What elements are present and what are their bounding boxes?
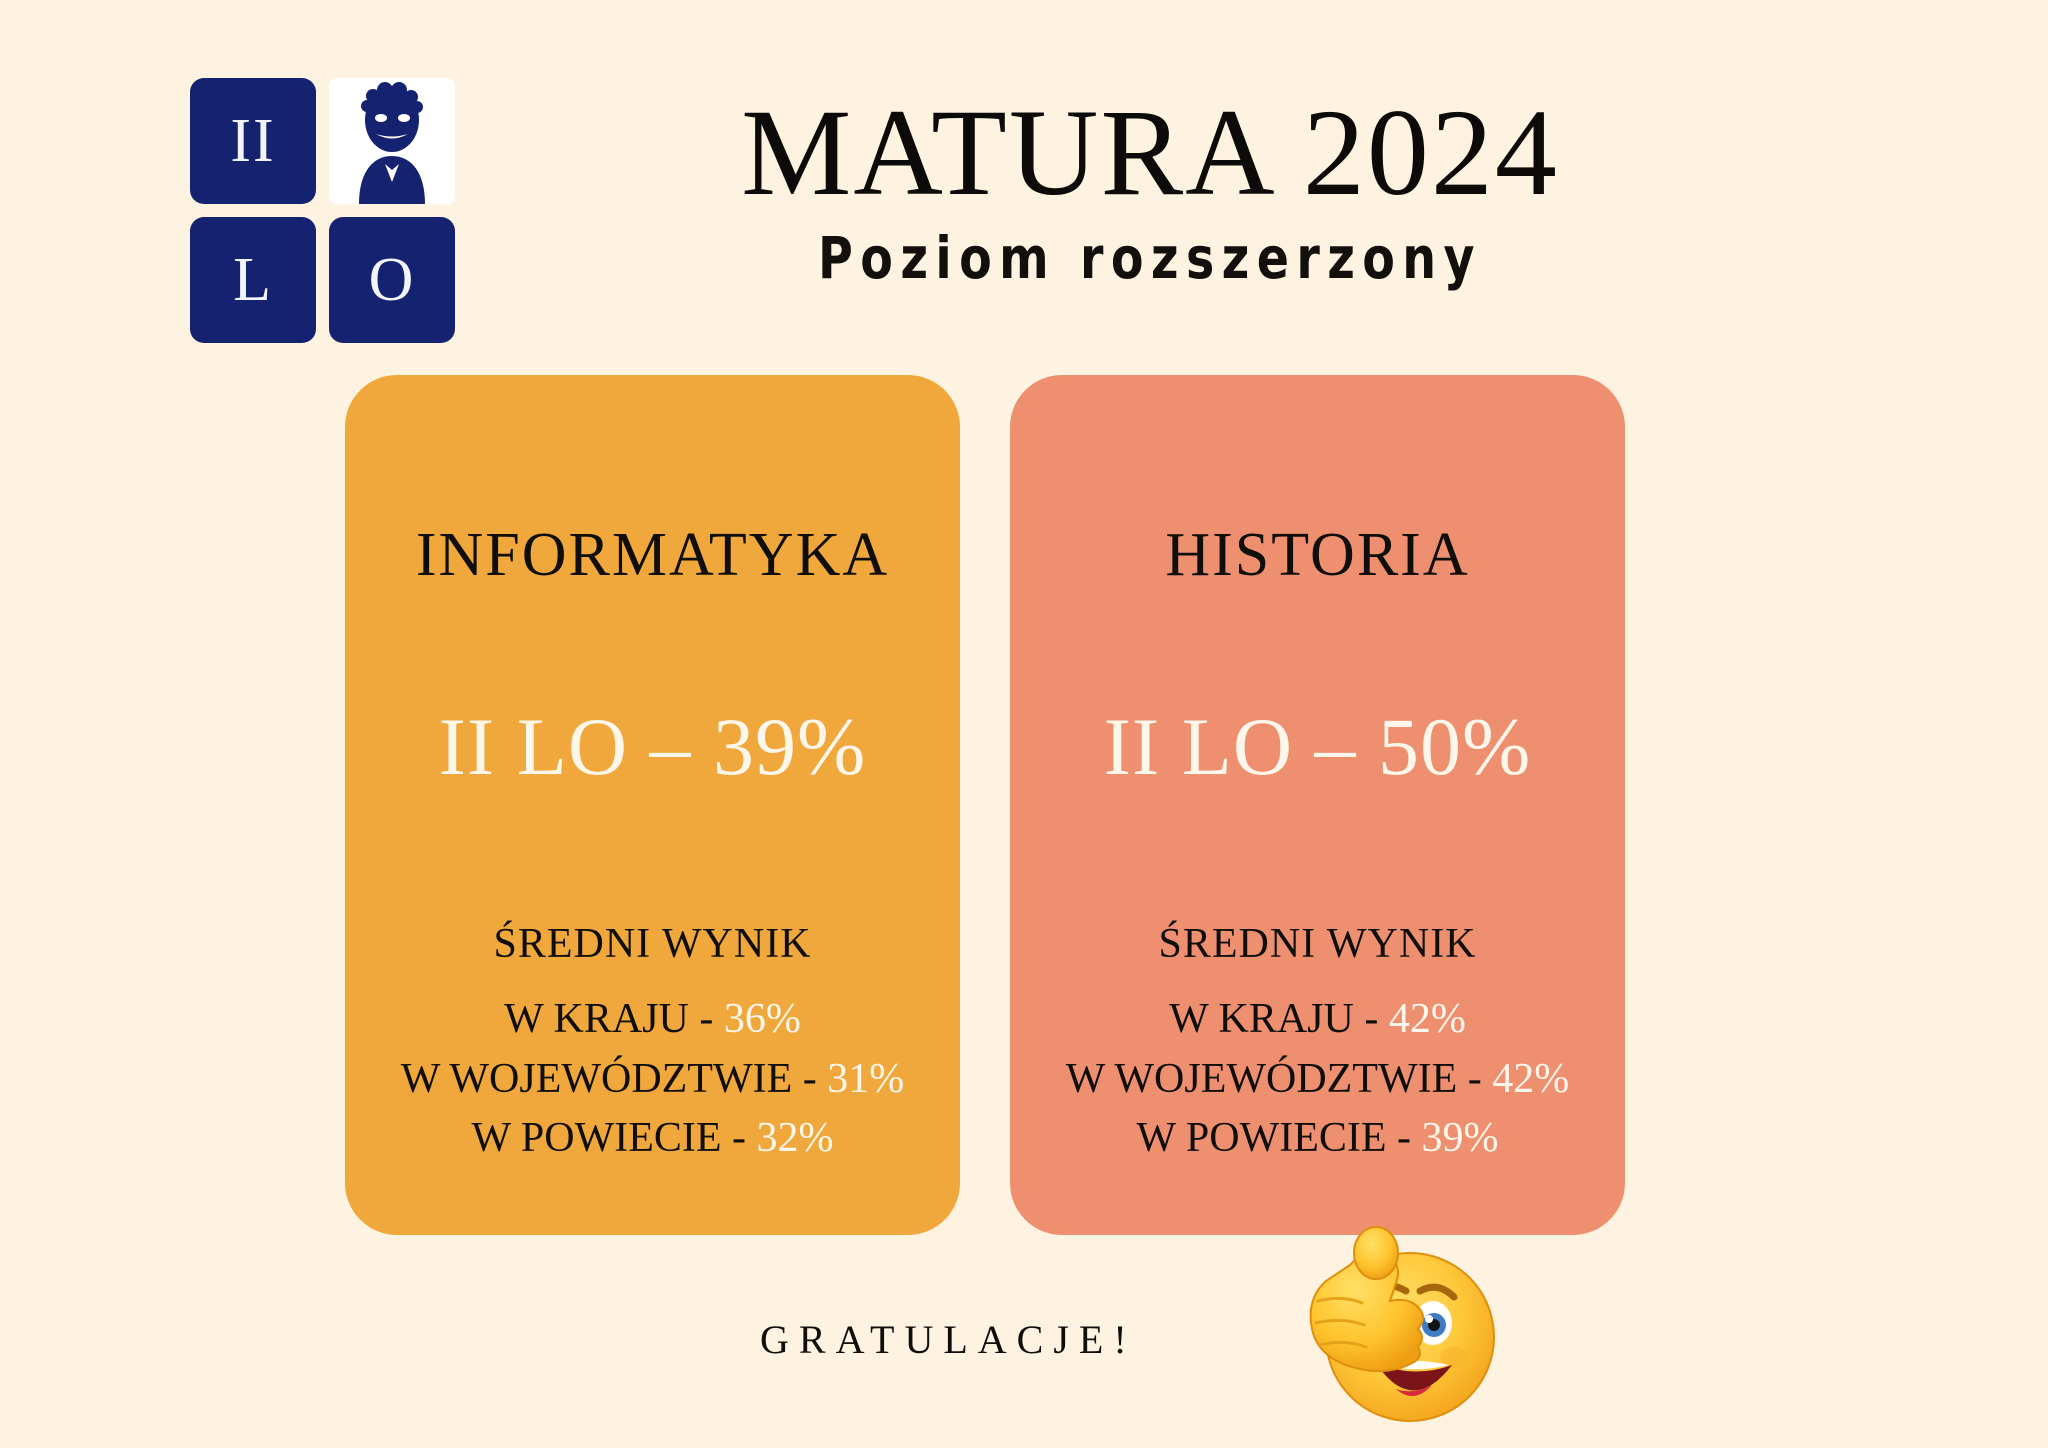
card-school-result: II LO – 50% (1010, 700, 1625, 794)
logo-tile-o-label: O (369, 249, 416, 311)
stat-label: W WOJEWÓDZTWIE - (401, 1056, 817, 1102)
stat-row-wojewodztwie: W WOJEWÓDZTWIE - 31% (345, 1050, 960, 1110)
stat-value: 39% (1422, 1115, 1499, 1161)
stat-label: W POWIECIE - (472, 1115, 747, 1161)
congratulations-text: GRATULACJE! (760, 1316, 1137, 1363)
logo-tile-l: L (190, 217, 316, 343)
logo-tile-l-label: L (233, 249, 273, 311)
stat-row-kraju: W KRAJU - 36% (345, 990, 960, 1050)
stat-value: 36% (724, 996, 801, 1042)
poster-canvas: II (0, 0, 2048, 1448)
stat-value: 42% (1389, 996, 1466, 1042)
stat-row-kraju: W KRAJU - 42% (1010, 990, 1625, 1050)
card-average-label: ŚREDNI WYNIK (345, 920, 960, 968)
stat-row-wojewodztwie: W WOJEWÓDZTWIE - 42% (1010, 1050, 1625, 1110)
ii-lo-school-logo: II (190, 78, 455, 343)
card-stat-list: W KRAJU - 42% W WOJEWÓDZTWIE - 42% W POW… (1010, 990, 1625, 1169)
stat-row-powiecie: W POWIECIE - 32% (345, 1109, 960, 1169)
subject-card-informatyka: INFORMATYKA II LO – 39% ŚREDNI WYNIK W K… (345, 375, 960, 1235)
stat-label: W KRAJU - (1169, 996, 1378, 1042)
stat-row-powiecie: W POWIECIE - 39% (1010, 1109, 1625, 1169)
stat-label: W POWIECIE - (1137, 1115, 1412, 1161)
subject-card-historia: HISTORIA II LO – 50% ŚREDNI WYNIK W KRAJ… (1010, 375, 1625, 1235)
page-subtitle: Poziom rozszerzony (560, 224, 1741, 292)
page-title: MATURA 2024 (430, 90, 1870, 216)
stat-value: 42% (1492, 1056, 1569, 1102)
card-school-result: II LO – 39% (345, 700, 960, 794)
card-stat-list: W KRAJU - 36% W WOJEWÓDZTWIE - 31% W POW… (345, 990, 960, 1169)
card-subject-title: INFORMATYKA (345, 520, 960, 591)
stat-value: 32% (757, 1115, 834, 1161)
stat-label: W KRAJU - (504, 996, 713, 1042)
card-average-label: ŚREDNI WYNIK (1010, 920, 1625, 968)
logo-tile-ii: II (190, 78, 316, 204)
stat-value: 31% (827, 1056, 904, 1102)
thumbs-up-smiley-emoji (1258, 1205, 1498, 1435)
title-block: MATURA 2024 Poziom rozszerzony (430, 90, 1870, 292)
card-subject-title: HISTORIA (1010, 520, 1625, 591)
logo-tile-ii-label: II (230, 110, 275, 172)
stat-label: W WOJEWÓDZTWIE - (1066, 1056, 1482, 1102)
